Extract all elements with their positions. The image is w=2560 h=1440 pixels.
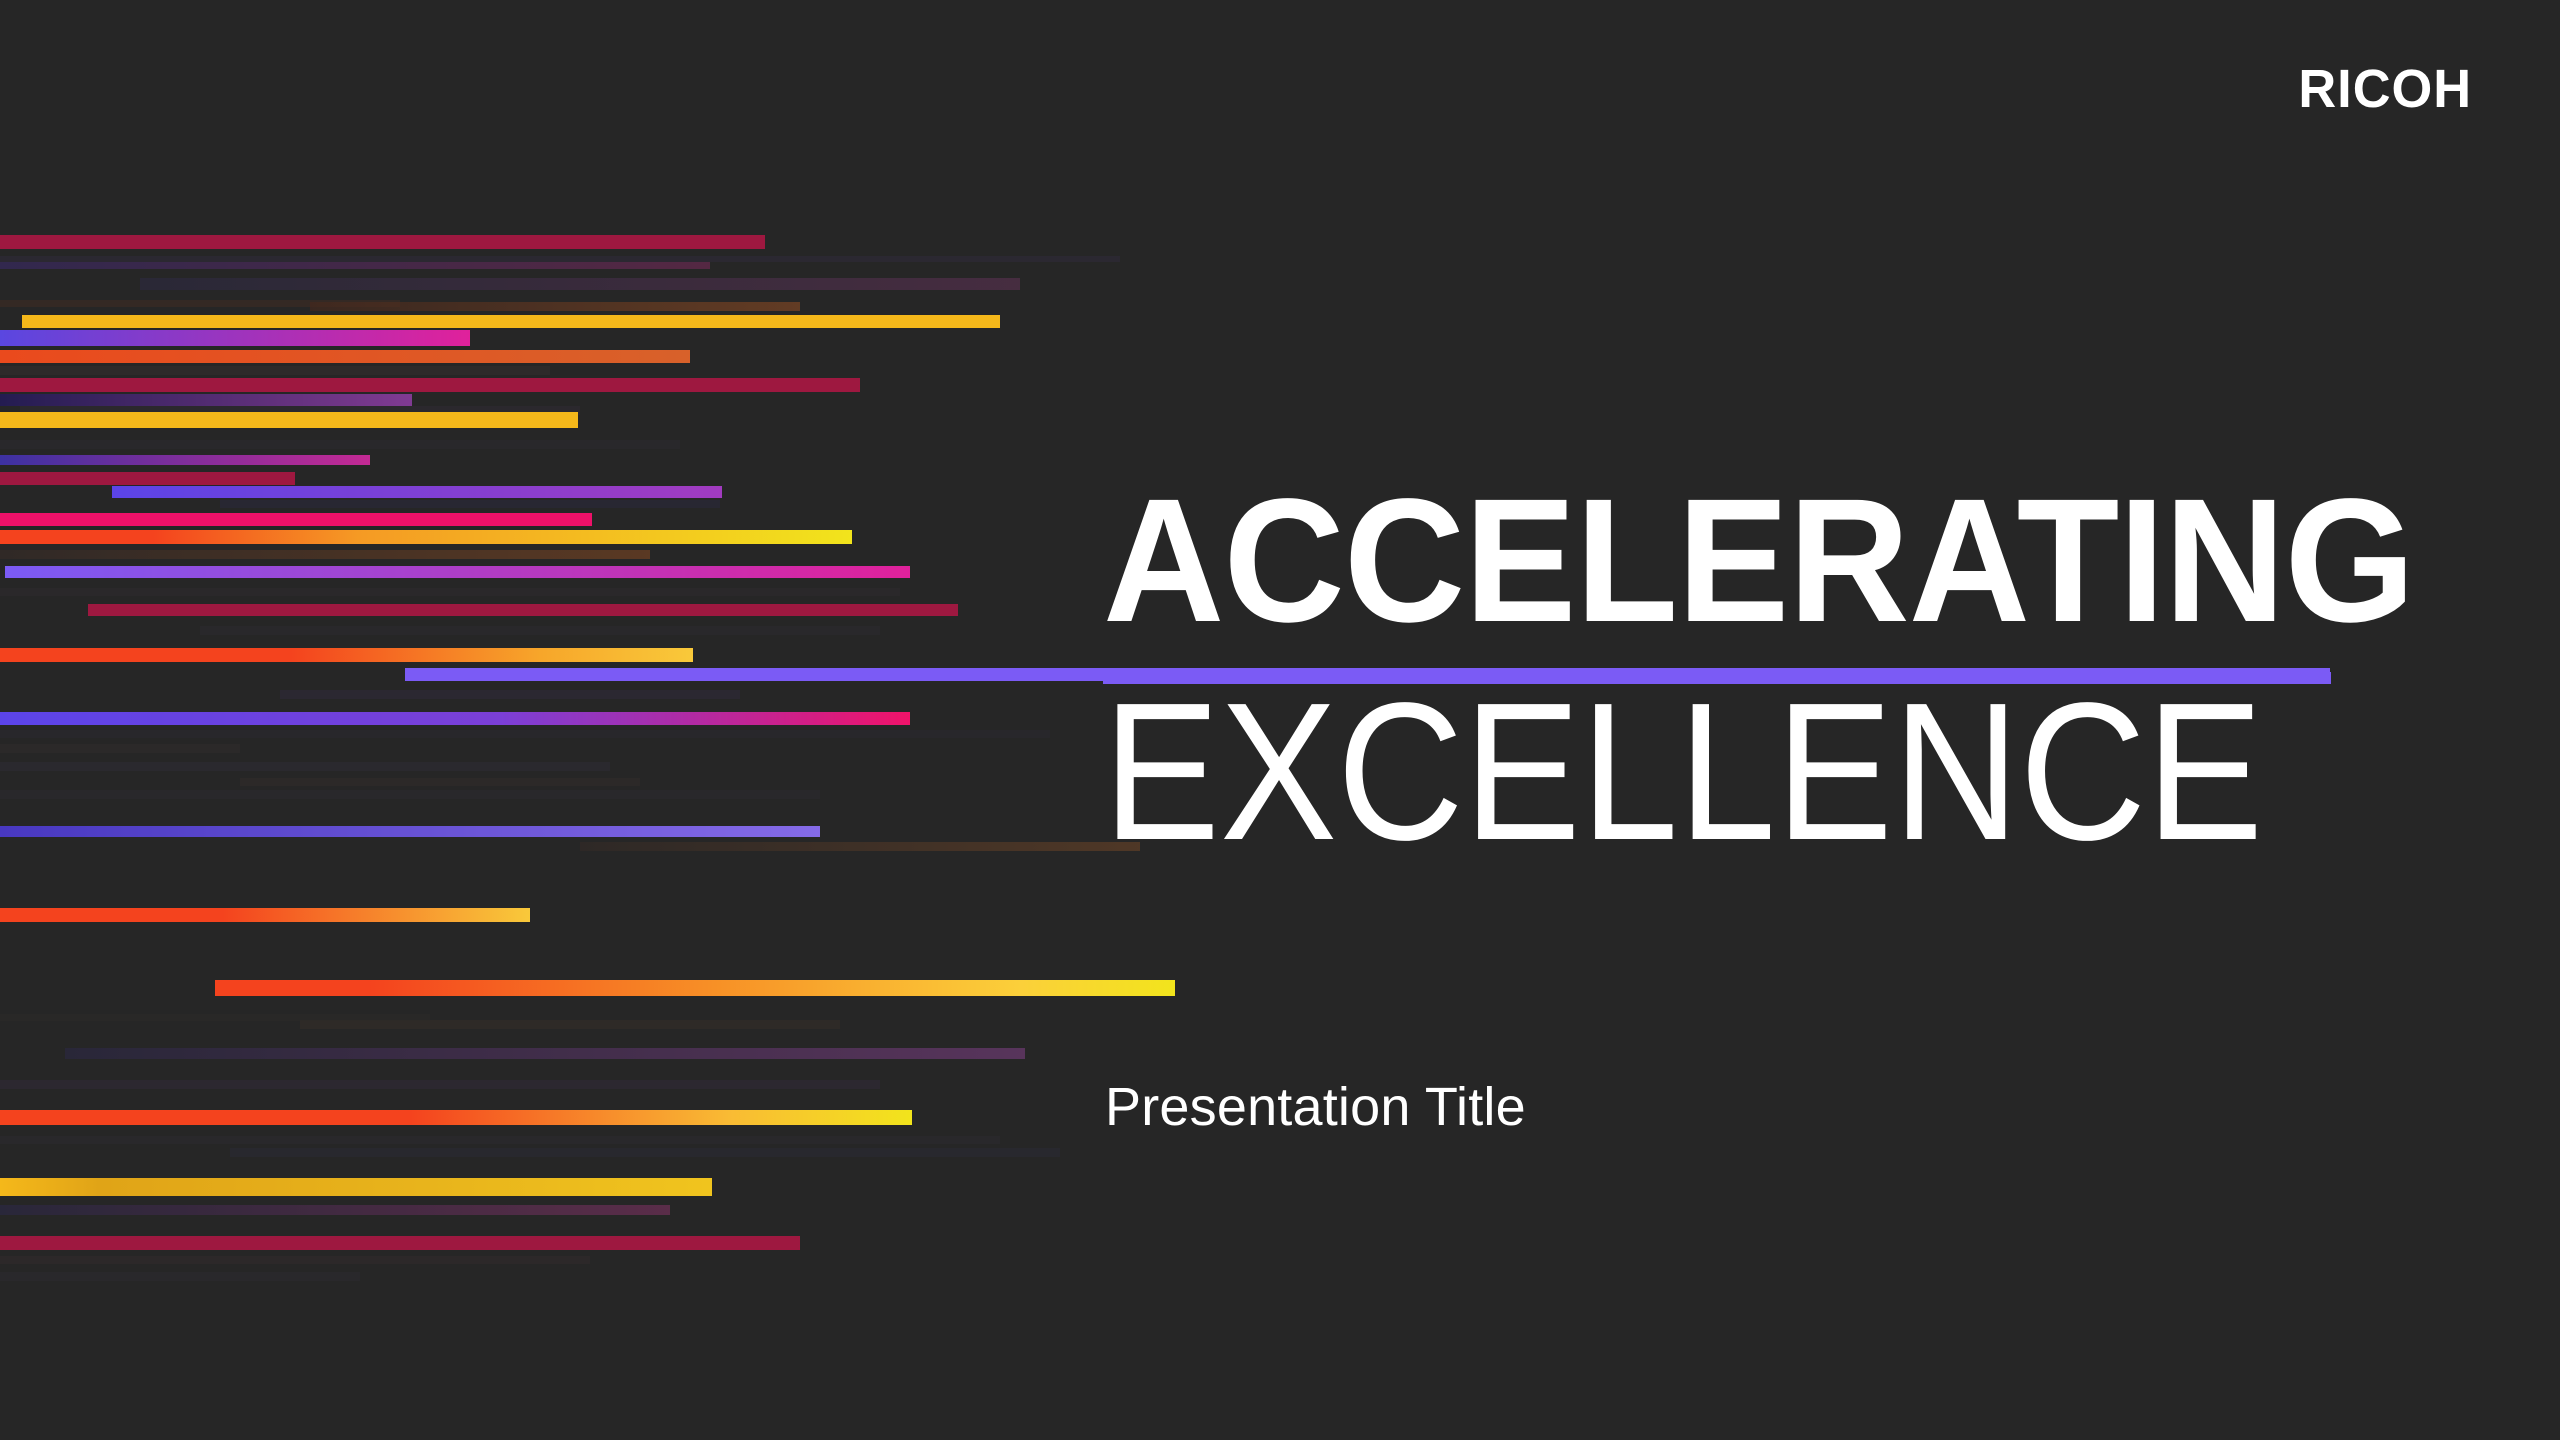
speed-line <box>0 513 592 526</box>
speed-line <box>0 350 690 363</box>
speed-line <box>0 712 910 725</box>
speed-line <box>140 278 1020 290</box>
speed-line <box>0 1236 800 1250</box>
speed-line <box>0 790 820 799</box>
speed-line <box>200 626 880 635</box>
speed-line <box>20 406 580 415</box>
speed-line <box>0 744 240 753</box>
speed-line <box>220 500 720 508</box>
speed-line <box>230 1148 1060 1157</box>
headline-line-1: ACCELERATING <box>1103 482 2297 640</box>
speed-line <box>5 566 910 578</box>
speed-line <box>215 980 1175 996</box>
speed-line <box>0 1205 670 1215</box>
ricoh-logo: RICOH <box>2298 62 2472 116</box>
speed-line <box>0 412 578 428</box>
speed-line <box>0 648 693 662</box>
speed-line <box>240 778 640 786</box>
speed-line <box>0 1014 430 1021</box>
speed-line <box>0 440 680 449</box>
speed-line <box>0 300 400 307</box>
speed-line <box>0 366 550 375</box>
speed-line <box>0 256 1120 262</box>
speed-line <box>0 908 530 922</box>
speed-line <box>88 604 958 616</box>
speed-line <box>300 1020 840 1029</box>
speed-line <box>0 826 820 837</box>
speed-line <box>0 1272 360 1281</box>
speed-line <box>0 378 860 392</box>
speed-line <box>280 690 740 699</box>
speed-line <box>0 330 470 346</box>
speed-line <box>65 1048 1025 1059</box>
speed-line <box>0 762 610 771</box>
speed-line <box>0 550 650 559</box>
speed-line <box>0 1136 1000 1144</box>
speed-line <box>0 1110 912 1125</box>
title-slide: RICOH ACCELERATING EXCELLENCE Presentati… <box>0 0 2560 1440</box>
speed-line <box>0 455 370 465</box>
headline-block: ACCELERATING EXCELLENCE <box>1103 482 2353 861</box>
speed-line <box>0 1080 880 1089</box>
speed-line <box>22 315 1000 328</box>
presentation-title-text: Presentation Title <box>1105 1080 1526 1134</box>
speed-line <box>0 235 765 249</box>
speed-line <box>310 302 800 311</box>
speed-line <box>0 530 852 544</box>
speed-line <box>0 730 1050 738</box>
speed-line <box>0 262 710 269</box>
headline-line-2: EXCELLENCE <box>1103 640 2222 860</box>
speed-line <box>0 472 295 485</box>
speed-line <box>0 1178 712 1196</box>
speed-line <box>0 394 412 406</box>
speed-line <box>0 588 900 596</box>
speed-line <box>580 842 1140 851</box>
speed-line <box>112 486 722 498</box>
speed-line <box>0 1256 590 1264</box>
